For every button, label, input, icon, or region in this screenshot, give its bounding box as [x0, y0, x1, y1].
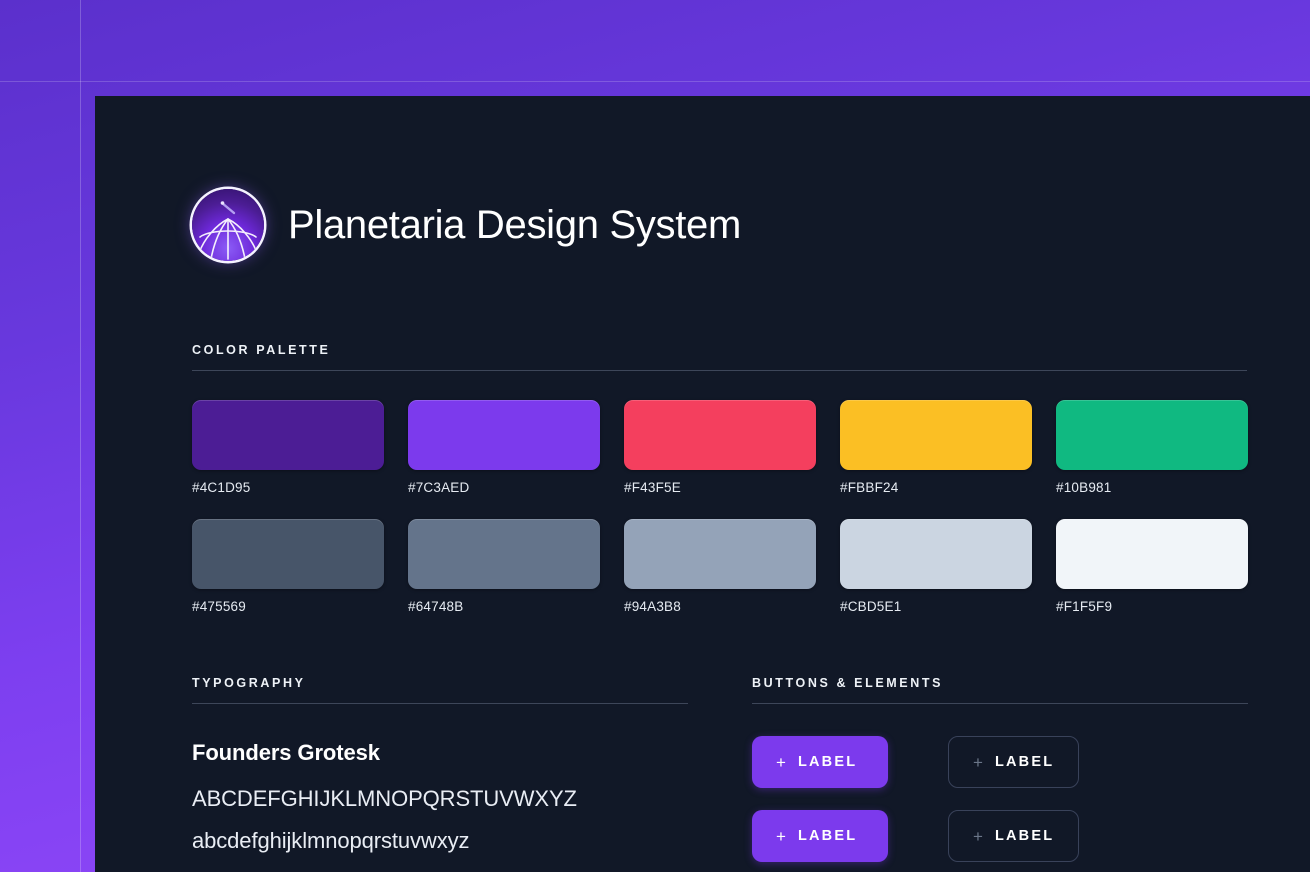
swatch-cell[interactable]: #10B981 — [1056, 400, 1248, 495]
buttons-section: BUTTONS & ELEMENTS + LABEL + LABEL + — [752, 676, 1248, 872]
section-divider — [192, 370, 1247, 371]
section-divider — [752, 703, 1248, 704]
button-grid: + LABEL + LABEL + LABEL + — [752, 736, 1248, 872]
button-label: LABEL — [798, 828, 857, 844]
section-heading-buttons: BUTTONS & ELEMENTS — [752, 676, 1248, 690]
planetarium-dome-icon — [192, 189, 264, 261]
primary-button[interactable]: + LABEL — [752, 736, 888, 788]
swatch-hex-label: #CBD5E1 — [840, 599, 1032, 614]
guide-line-horizontal — [0, 81, 1310, 82]
button-label: LABEL — [995, 754, 1054, 770]
swatch-hex-label: #475569 — [192, 599, 384, 614]
design-system-card: Planetaria Design System COLOR PALETTE #… — [95, 96, 1310, 872]
specimen-uppercase: ABCDEFGHIJKLMNOPQRSTUVWXYZ — [192, 786, 688, 812]
swatch-cell[interactable]: #4C1D95 — [192, 400, 384, 495]
swatch-cell[interactable]: #475569 — [192, 519, 384, 614]
swatch-hex-label: #F1F5F9 — [1056, 599, 1248, 614]
swatch-cell[interactable]: #F43F5E — [624, 400, 816, 495]
plus-icon: + — [973, 754, 983, 771]
swatch-grid: #4C1D95 #7C3AED #F43F5E #FBBF24 — [192, 400, 1247, 614]
plus-icon: + — [973, 828, 983, 845]
swatch-hex-label: #94A3B8 — [624, 599, 816, 614]
specimen-lowercase: abcdefghijklmnopqrstuvwxyz — [192, 828, 688, 854]
swatch-cell[interactable]: #FBBF24 — [840, 400, 1032, 495]
color-swatch[interactable] — [192, 519, 384, 589]
button-label: LABEL — [798, 754, 857, 770]
swatch-cell[interactable]: #7C3AED — [408, 400, 600, 495]
swatch-cell[interactable]: #F1F5F9 — [1056, 519, 1248, 614]
color-swatch[interactable] — [1056, 519, 1248, 589]
secondary-button[interactable]: + LABEL — [948, 810, 1079, 862]
swatch-hex-label: #64748B — [408, 599, 600, 614]
button-label: LABEL — [995, 828, 1054, 844]
secondary-button[interactable]: + LABEL — [948, 736, 1079, 788]
font-specimen: ABCDEFGHIJKLMNOPQRSTUVWXYZ abcdefghijklm… — [192, 786, 688, 872]
swatch-cell[interactable]: #94A3B8 — [624, 519, 816, 614]
swatch-cell[interactable]: #64748B — [408, 519, 600, 614]
page-title: Planetaria Design System — [288, 203, 741, 248]
swatch-hex-label: #10B981 — [1056, 480, 1248, 495]
section-heading-typography: TYPOGRAPHY — [192, 676, 688, 690]
color-swatch[interactable] — [624, 400, 816, 470]
swatch-cell[interactable]: #CBD5E1 — [840, 519, 1032, 614]
color-swatch[interactable] — [408, 519, 600, 589]
swatch-hex-label: #F43F5E — [624, 480, 816, 495]
typography-section: TYPOGRAPHY Founders Grotesk ABCDEFGHIJKL… — [192, 676, 688, 872]
section-heading-palette: COLOR PALETTE — [192, 343, 1247, 357]
swatch-hex-label: #FBBF24 — [840, 480, 1032, 495]
color-swatch[interactable] — [840, 400, 1032, 470]
color-swatch[interactable] — [624, 519, 816, 589]
plus-icon: + — [776, 754, 786, 771]
color-swatch[interactable] — [840, 519, 1032, 589]
color-swatch[interactable] — [1056, 400, 1248, 470]
color-swatch[interactable] — [192, 400, 384, 470]
font-family-name: Founders Grotesk — [192, 740, 688, 766]
swatch-hex-label: #7C3AED — [408, 480, 600, 495]
section-divider — [192, 703, 688, 704]
swatch-hex-label: #4C1D95 — [192, 480, 384, 495]
plus-icon: + — [776, 828, 786, 845]
guide-line-vertical — [80, 0, 81, 872]
primary-button[interactable]: + LABEL — [752, 810, 888, 862]
color-swatch[interactable] — [408, 400, 600, 470]
color-palette-section: COLOR PALETTE #4C1D95 #7C3AED #F43F5E — [192, 343, 1247, 614]
page-header: Planetaria Design System — [192, 96, 1310, 261]
page-backdrop: Planetaria Design System COLOR PALETTE #… — [0, 0, 1310, 872]
